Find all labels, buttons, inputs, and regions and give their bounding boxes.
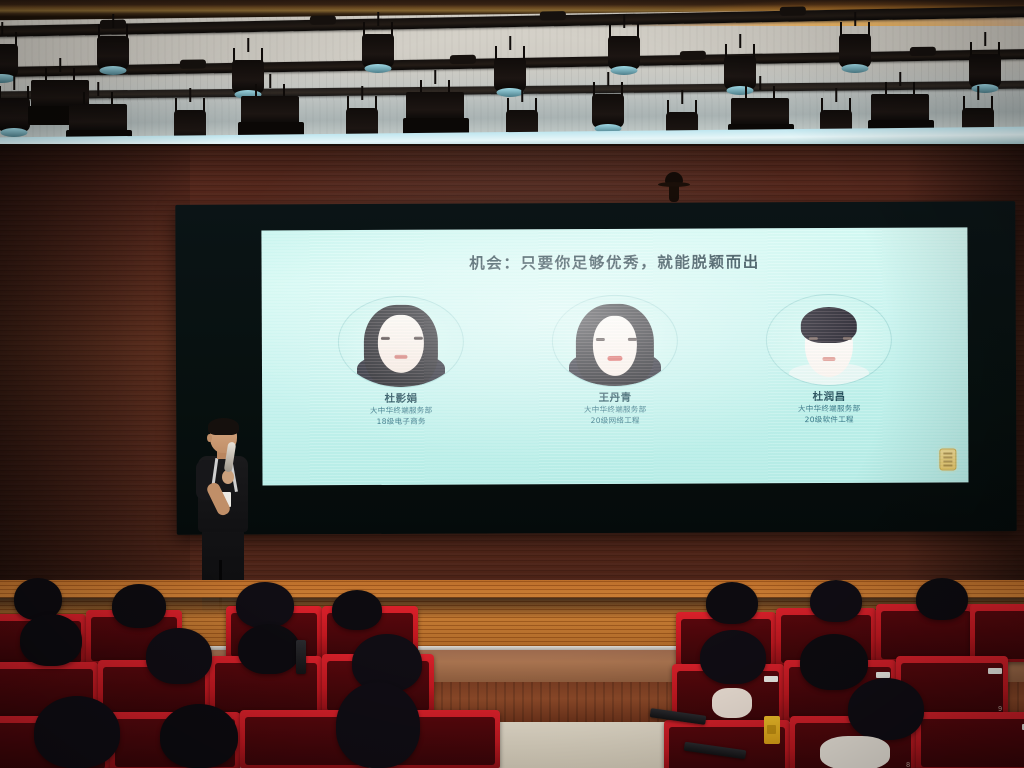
slide-title: 机会：只要你足够优秀，就能脱颖而出 (261, 249, 967, 274)
auditorium-seat (970, 604, 1024, 662)
slide-person-card: 杜影娟 大中华终端服务部 18级电子商务 (331, 296, 472, 428)
portrait-du-runchang (766, 294, 892, 387)
slide-person-card: 王丹青 大中华终端服务部 20级网络工程 (545, 295, 686, 427)
slide-person-dept: 大中华终端服务部 (545, 405, 685, 416)
ceiling-lighting-truss (0, 0, 1024, 152)
audience-head (848, 678, 924, 740)
audience-head (160, 704, 238, 768)
slide-person-name: 王丹青 (545, 390, 685, 406)
slide-person-name: 杜润昌 (759, 389, 899, 405)
audience-head (700, 630, 766, 684)
slide-person-dept: 大中华终端服务部 (759, 404, 899, 415)
auditorium-seat (916, 712, 1024, 768)
audience-head (706, 582, 758, 624)
audience-head (20, 614, 82, 666)
audience-head (810, 580, 862, 622)
slide-corner-logo-icon (939, 448, 956, 470)
audience-arm (712, 688, 752, 718)
audience-head (800, 634, 868, 690)
portrait-wang-danqing (552, 295, 678, 388)
seat-armrest (296, 640, 306, 674)
slide-person-major: 20级软件工程 (759, 415, 899, 426)
slide-person-dept: 大中华终端服务部 (331, 406, 471, 417)
audience-seating: 10 9 8 (0, 560, 1024, 768)
auditorium-photo-scene: 机会：只要你足够优秀，就能脱颖而出 杜影娟 大中华终端服务部 (0, 0, 1024, 768)
audience-head (916, 578, 968, 620)
audience-head (146, 628, 212, 684)
audience-head (336, 682, 420, 768)
projection-screen: 机会：只要你足够优秀，就能脱颖而出 杜影娟 大中华终端服务部 (261, 227, 968, 485)
portrait-du-yingjuan (338, 296, 464, 389)
slide-person-major: 20级网络工程 (545, 415, 685, 426)
audience-head (238, 624, 300, 674)
audience-head (112, 584, 166, 628)
wall-shadow-left (0, 146, 190, 586)
yellow-snack-package (764, 716, 780, 744)
slide-person-major: 18级电子商务 (331, 416, 471, 427)
ceiling-camera-icon (658, 172, 690, 202)
seat-number: 8 (906, 762, 910, 768)
slide-person-card: 杜润昌 大中华终端服务部 20级软件工程 (759, 294, 900, 426)
audience-shoulder (820, 736, 890, 768)
slide-person-name: 杜影娟 (331, 391, 471, 407)
slide-people-row: 杜影娟 大中华终端服务部 18级电子商务 王丹青 大中华 (262, 293, 969, 428)
audience-head (236, 582, 294, 628)
audience-head (34, 696, 120, 768)
projection-screen-bezel: 机会：只要你足够优秀，就能脱颖而出 杜影娟 大中华终端服务部 (175, 201, 1016, 535)
audience-head (332, 590, 382, 630)
